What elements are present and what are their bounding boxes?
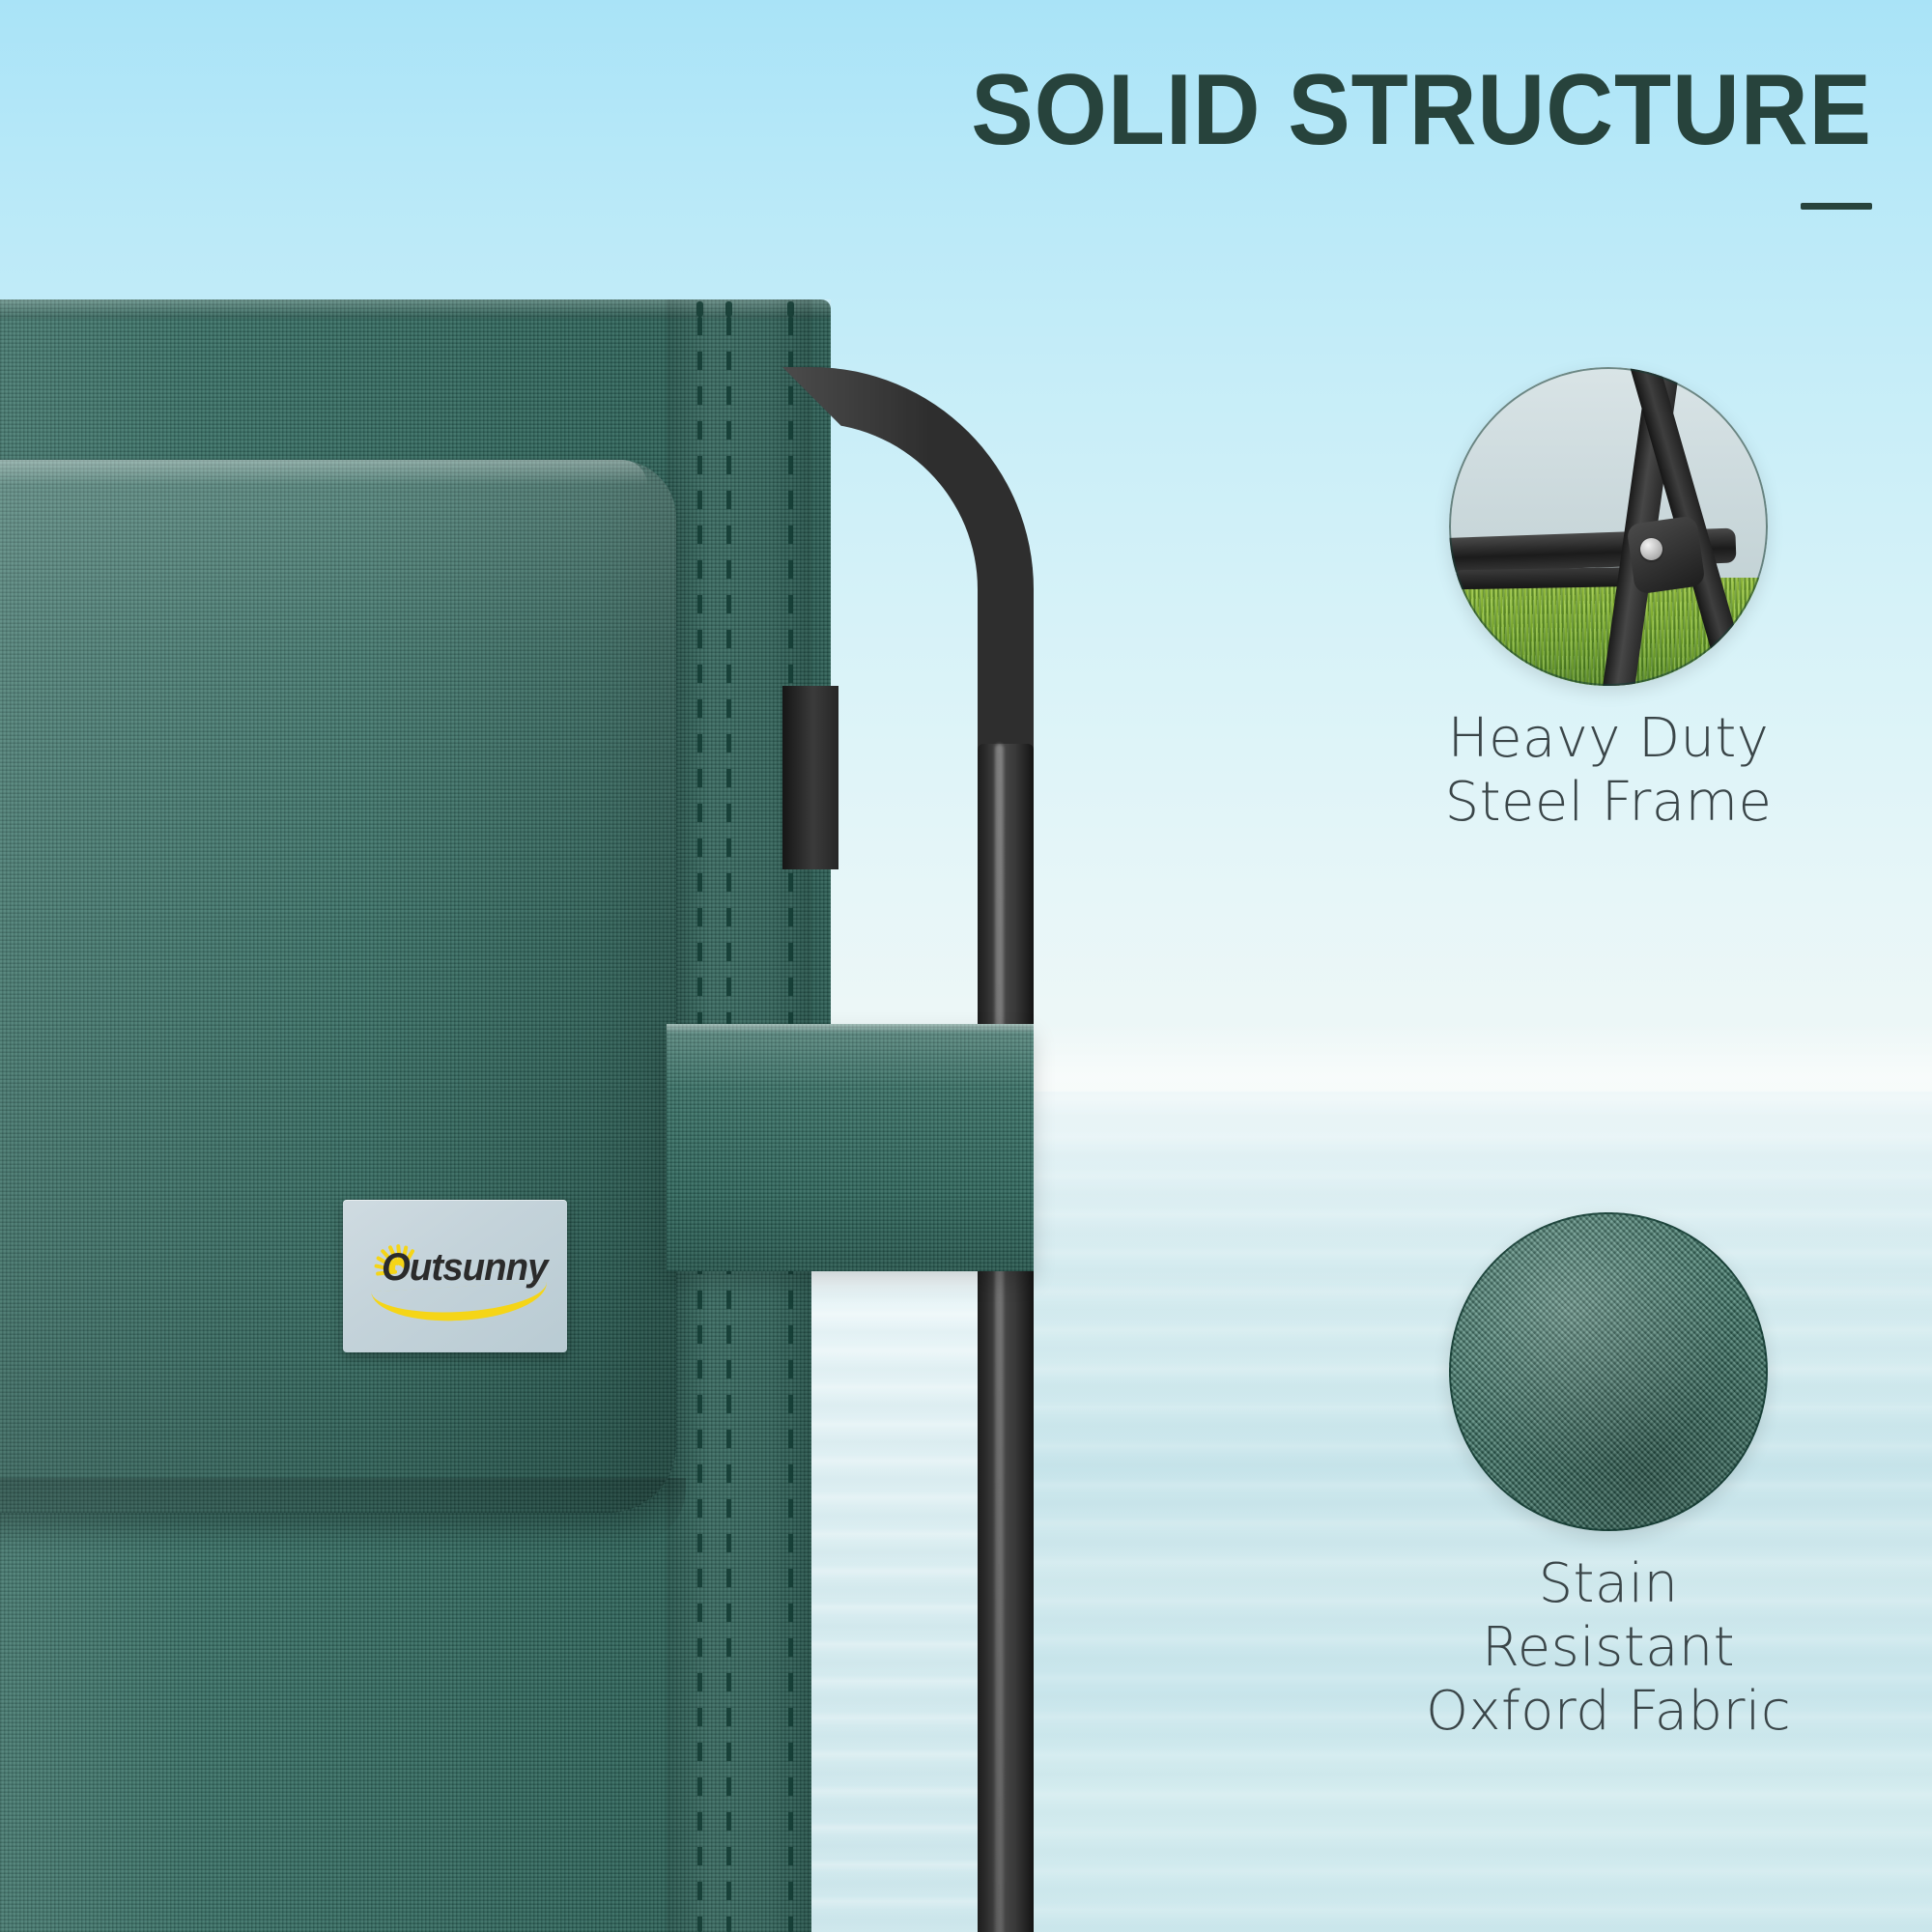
stitch-cap-1 bbox=[696, 301, 703, 317]
stitch-cap-3 bbox=[787, 301, 794, 317]
steel-tube-vertical bbox=[978, 744, 1034, 1932]
background-gap-ripples bbox=[811, 1271, 978, 1932]
feature-caption-oxford-fabric: Stain Resistant Oxford Fabric bbox=[1425, 1552, 1792, 1744]
feature-image-steel-frame bbox=[1449, 367, 1768, 686]
feature-steel-frame: Heavy Duty Steel Frame bbox=[1425, 367, 1792, 835]
product-feature-poster: SOLID STRUCTURE bbox=[0, 0, 1932, 1932]
page-title: SOLID STRUCTURE bbox=[686, 58, 1872, 163]
outsunny-logo: Outsunny bbox=[360, 1238, 550, 1314]
chair-cushion-fold bbox=[0, 1478, 686, 1546]
chair-armrest-strap-shading bbox=[667, 1024, 1034, 1271]
chair-cushion-top-edge bbox=[0, 460, 647, 485]
stitch-cap-2 bbox=[725, 301, 732, 317]
chair-armrest-strap-edge bbox=[667, 1024, 1034, 1034]
chair-cushion-shading bbox=[0, 460, 676, 1513]
feature-image-oxford-fabric bbox=[1449, 1212, 1768, 1531]
circle-outline bbox=[1449, 1212, 1768, 1531]
title-underline-rule bbox=[1801, 203, 1872, 210]
feature-caption-steel-frame: Heavy Duty Steel Frame bbox=[1425, 707, 1792, 835]
steel-tube-highlight bbox=[995, 744, 1004, 1932]
product-photo-chair: Outsunny bbox=[0, 290, 1024, 1932]
brand-label-inner: Outsunny bbox=[343, 1200, 567, 1352]
brand-label-plate: Outsunny bbox=[343, 1200, 567, 1352]
feature-oxford-fabric: Stain Resistant Oxford Fabric bbox=[1425, 1212, 1792, 1744]
circle-outline bbox=[1449, 367, 1768, 686]
